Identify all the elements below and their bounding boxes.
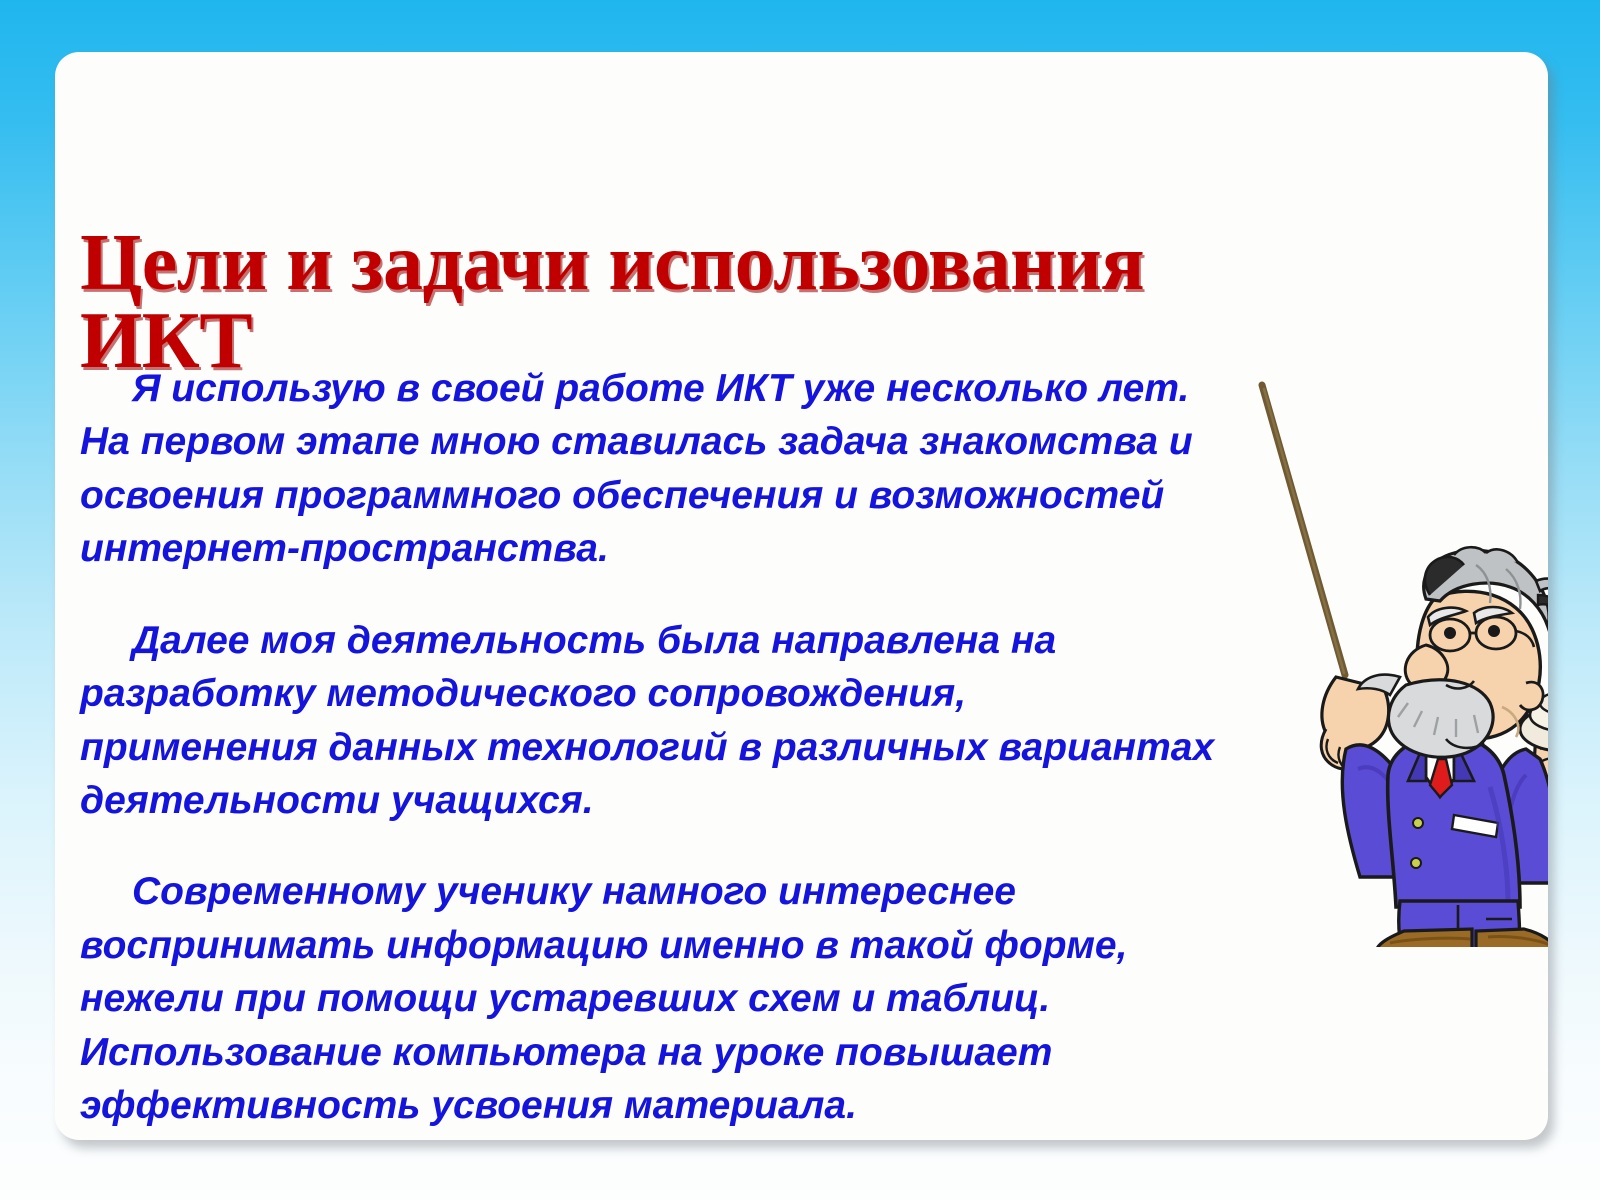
- content-card: Цели и задачи использования ИКТ Я исполь…: [55, 52, 1548, 1140]
- body-paragraph-3: Современному ученику намного интереснее …: [80, 865, 1215, 1132]
- cartoon-professor-illustration: [1240, 377, 1548, 947]
- slide-body-text: Я использую в своей работе ИКТ уже неско…: [80, 362, 1215, 1132]
- professor-torso: [1388, 735, 1520, 907]
- page-title: Цели и задачи использования ИКТ: [80, 224, 1260, 381]
- professor-shoes: [1376, 929, 1548, 947]
- pointer-stick-icon: [1262, 385, 1345, 675]
- body-paragraph-1: Я использую в своей работе ИКТ уже неско…: [80, 362, 1215, 576]
- body-paragraph-2: Далее моя деятельность была направлена н…: [80, 614, 1215, 828]
- slide-root: Цели и задачи использования ИКТ Я исполь…: [0, 0, 1600, 1200]
